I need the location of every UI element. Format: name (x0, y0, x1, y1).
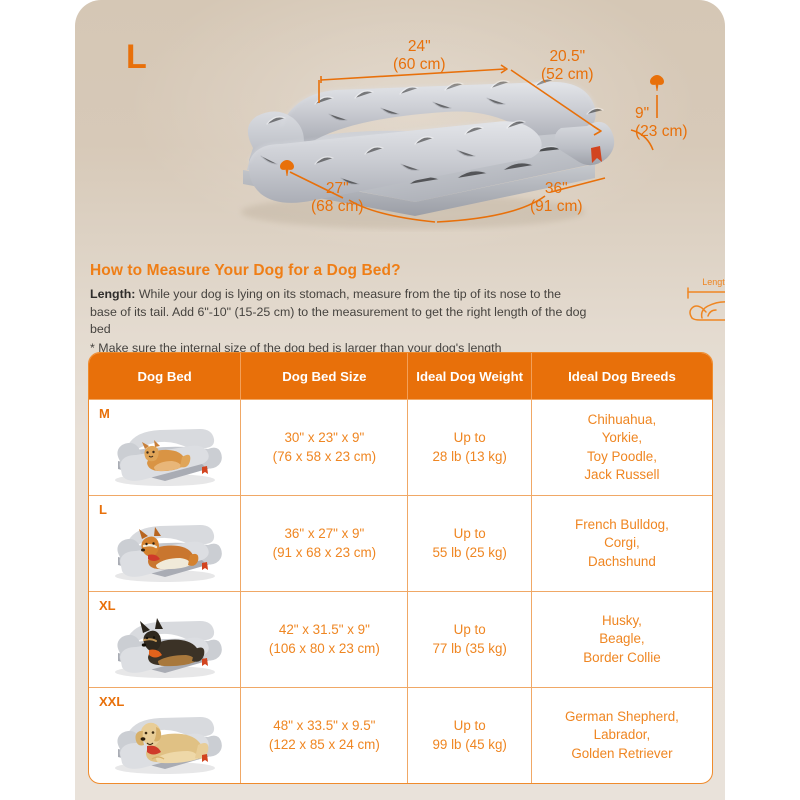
length-instruction: While your dog is lying on its stomach, … (90, 287, 586, 336)
row-size-label: M (99, 407, 110, 420)
bed-size-cell: 42" x 31.5" x 9"(106 x 80 x 23 cm) (241, 592, 408, 687)
weight-prefix: Up to (454, 622, 486, 637)
how-to-measure-heading: How to Measure Your Dog for a Dog Bed? (90, 262, 710, 280)
column-header-dog-bed: Dog Bed (89, 353, 241, 399)
bed-size-cell: 36" x 27" x 9"(91 x 68 x 23 cm) (241, 496, 408, 591)
bed-thumbnail-cell: XL (89, 592, 241, 687)
column-header-ideal-dog-weight: Ideal Dog Weight (408, 353, 531, 399)
breed-item: Yorkie, (602, 430, 642, 445)
weight-value: 77 lb (35 kg) (432, 641, 506, 656)
dog-breeds-cell: French Bulldog, Corgi, Dachshund (532, 496, 712, 591)
bed-thumbnail-m (102, 417, 227, 489)
dimension-marker-icon (280, 160, 294, 176)
dog-length-diagram-icon: Length (678, 268, 725, 330)
dog-breeds-cell: German Shepherd, Labrador, Golden Retrie… (532, 688, 712, 783)
dog-icon-length-text: Length (702, 277, 725, 287)
size-chart-table: Dog Bed Dog Bed Size Ideal Dog Weight Id… (88, 352, 713, 784)
bed-thumbnail-l (102, 513, 227, 585)
how-to-measure-section: How to Measure Your Dog for a Dog Bed? L… (90, 262, 710, 357)
table-header-row: Dog Bed Dog Bed Size Ideal Dog Weight Id… (89, 353, 712, 399)
breed-item: Jack Russell (584, 467, 659, 482)
breed-item: Border Collie (583, 650, 660, 665)
column-header-ideal-dog-breeds: Ideal Dog Breeds (532, 353, 712, 399)
dog-weight-cell: Up to28 lb (13 kg) (408, 400, 531, 495)
dog-weight-cell: Up to99 lb (45 kg) (408, 688, 531, 783)
size-inches: 30" x 23" x 9" (284, 430, 364, 445)
dimension-label-height: 9"(23 cm) (635, 105, 688, 141)
breed-item: French Bulldog, (575, 517, 669, 532)
how-to-measure-body: Length: While your dog is lying on its s… (90, 286, 587, 339)
weight-value: 55 lb (25 kg) (432, 545, 506, 560)
weight-prefix: Up to (454, 718, 486, 733)
bed-thumbnail-xl (102, 609, 227, 681)
bed-thumbnail-xxl (102, 705, 227, 777)
size-cm: (76 x 58 x 23 cm) (273, 449, 376, 464)
dog-weight-cell: Up to77 lb (35 kg) (408, 592, 531, 687)
weight-value: 99 lb (45 kg) (432, 737, 506, 752)
size-cm: (106 x 80 x 23 cm) (269, 641, 380, 656)
bed-thumbnail-cell: L (89, 496, 241, 591)
size-cm: (122 x 85 x 24 cm) (269, 737, 380, 752)
length-label: Length: (90, 287, 135, 301)
content-panel: L (75, 0, 725, 800)
size-inches: 42" x 31.5" x 9" (279, 622, 370, 637)
table-row: XL (89, 591, 712, 687)
breed-item: German Shepherd, (565, 709, 679, 724)
breed-item: Dachshund (588, 554, 656, 569)
breed-item: Toy Poodle, (587, 449, 657, 464)
dog-breeds-cell: Husky, Beagle, Border Collie (532, 592, 712, 687)
dimension-label-width-outer: 36"(91 cm) (530, 180, 583, 216)
table-row: XXL (89, 687, 712, 783)
row-size-label: XXL (99, 695, 124, 708)
size-inches: 48" x 33.5" x 9.5" (273, 718, 375, 733)
infographic-page: L (0, 0, 800, 800)
bed-size-cell: 30" x 23" x 9"(76 x 58 x 23 cm) (241, 400, 408, 495)
weight-value: 28 lb (13 kg) (432, 449, 506, 464)
breed-item: Chihuahua, (588, 412, 657, 427)
dimension-label-depth-outer: 27"(68 cm) (311, 180, 364, 216)
dog-breeds-cell: Chihuahua, Yorkie, Toy Poodle, Jack Russ… (532, 400, 712, 495)
column-header-dog-bed-size: Dog Bed Size (241, 353, 408, 399)
table-row: L (89, 495, 712, 591)
row-size-label: XL (99, 599, 116, 612)
table-row: M (89, 399, 712, 495)
hero-section: L (75, 0, 725, 258)
breed-item: Husky, (602, 613, 642, 628)
weight-prefix: Up to (454, 430, 486, 445)
dog-weight-cell: Up to55 lb (25 kg) (408, 496, 531, 591)
bed-thumbnail-cell: XXL (89, 688, 241, 783)
weight-prefix: Up to (454, 526, 486, 541)
dimension-label-width-inner-back: 24"(60 cm) (393, 38, 446, 74)
breed-item: Beagle, (599, 631, 644, 646)
bed-thumbnail-cell: M (89, 400, 241, 495)
dimension-marker-icon (650, 75, 664, 91)
dimension-label-depth-inner: 20.5"(52 cm) (541, 48, 594, 84)
breed-item: Golden Retriever (571, 746, 672, 761)
size-cm: (91 x 68 x 23 cm) (273, 545, 376, 560)
bed-size-cell: 48" x 33.5" x 9.5"(122 x 85 x 24 cm) (241, 688, 408, 783)
breed-item: Corgi, (604, 535, 640, 550)
row-size-label: L (99, 503, 107, 516)
size-inches: 36" x 27" x 9" (284, 526, 364, 541)
breed-item: Labrador, (594, 727, 651, 742)
